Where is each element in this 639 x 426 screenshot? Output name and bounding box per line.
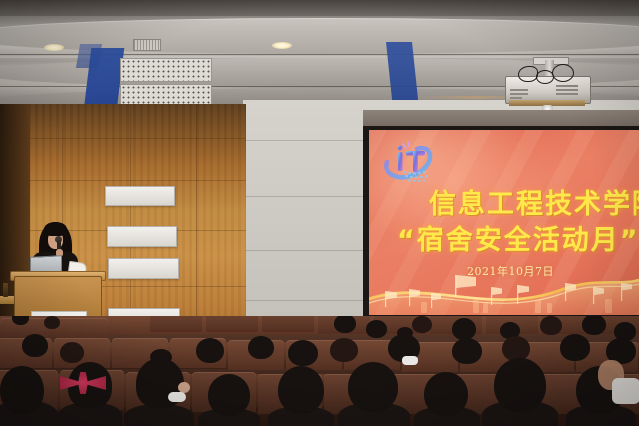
audience-head (60, 342, 84, 363)
face-mask (168, 392, 186, 402)
audience-head (540, 316, 562, 335)
audience-area (0, 316, 639, 426)
audience-shirt (612, 378, 639, 404)
slide-headline-line1: 信息工程技术学院 (429, 182, 639, 221)
audience-head (288, 340, 318, 366)
perforated-vent-panel (120, 58, 212, 82)
ceiling-dark-band (0, 0, 639, 16)
projection-screen: 信息工程技术学院 “宿舍安全活动月”启动 2021年10月7日 (369, 130, 639, 315)
auditorium-seat (150, 316, 202, 332)
audience-head (452, 318, 476, 340)
audience-head (334, 316, 356, 333)
air-grille-icon (133, 39, 161, 51)
slide-wave-decoration (369, 269, 639, 315)
face-mask (402, 356, 418, 365)
audience-head (0, 366, 44, 414)
it-swoosh-logo (381, 140, 443, 188)
recessed-downlight (272, 42, 292, 49)
audience-head (208, 374, 250, 416)
auditorium-seat (56, 318, 108, 340)
slide-headline-line2: “宿舍安全活动月”启动 (397, 218, 639, 257)
auditorium-seat (206, 316, 258, 332)
audience-head (424, 372, 468, 416)
audience-head (278, 366, 324, 414)
audience-head (330, 338, 358, 362)
audience-head (560, 334, 590, 361)
audience-head (196, 338, 224, 363)
speaker-bangs (44, 222, 67, 236)
audience-head (348, 362, 398, 412)
audience-head (248, 336, 274, 359)
audience-head (494, 358, 546, 412)
water-bottle (3, 283, 8, 297)
audience-head (366, 320, 387, 338)
wall-acoustic-panel (105, 186, 175, 206)
perforated-vent-panel (120, 84, 212, 106)
wall-acoustic-panel (107, 226, 177, 247)
audience-head (412, 316, 432, 333)
lecture-hall-scene: 信息工程技术学院 “宿舍安全活动月”启动 2021年10月7日 (0, 0, 639, 426)
recessed-downlight (44, 44, 64, 51)
audience-head (452, 338, 482, 364)
audience-head (22, 334, 48, 357)
auditorium-seat (262, 316, 314, 332)
audience-head (582, 316, 606, 335)
wall-acoustic-panel (108, 258, 179, 279)
audience-head (44, 316, 60, 329)
